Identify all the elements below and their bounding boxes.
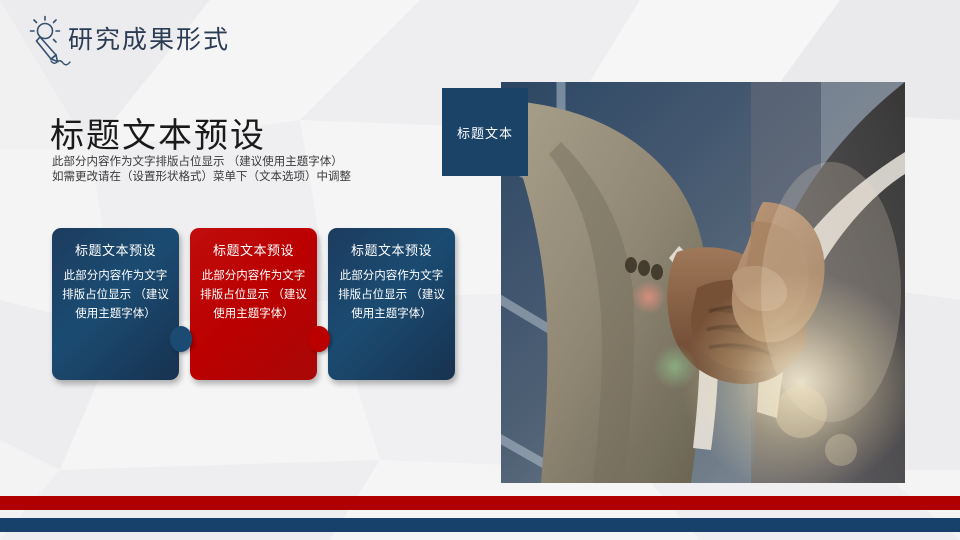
main-subtitle: 此部分内容作为文字排版占位显示 （建议使用主题字体）如需更改请在（设置形状格式）… [52, 155, 352, 185]
card-2-body: 此部分内容作为文字排版占位显示 （建议使用主题字体） [199, 267, 308, 324]
footer-bar-red [0, 496, 960, 510]
card-3-body: 此部分内容作为文字排版占位显示 （建议使用主题字体） [337, 267, 446, 324]
slide-root: 研究成果形式 标题文本预设 此部分内容作为文字排版占位显示 （建议使用主题字体）… [0, 0, 960, 540]
card-connector-1-icon [170, 326, 192, 352]
card-2-title: 标题文本预设 [199, 242, 308, 260]
card-3-title: 标题文本预设 [337, 242, 446, 260]
card-1[interactable]: 标题文本预设 此部分内容作为文字排版占位显示 （建议使用主题字体） [52, 228, 179, 380]
photo-label: 标题文本 [442, 88, 528, 176]
photo-label-text: 标题文本 [457, 123, 513, 142]
card-connector-2-icon [308, 326, 330, 352]
card-3[interactable]: 标题文本预设 此部分内容作为文字排版占位显示 （建议使用主题字体） [328, 228, 455, 380]
slide-header: 研究成果形式 [0, 0, 960, 72]
handshake-photo [501, 82, 905, 483]
card-2[interactable]: 标题文本预设 此部分内容作为文字排版占位显示 （建议使用主题字体） [190, 228, 317, 380]
footer-bar-blue [0, 518, 960, 532]
main-heading: 标题文本预设 [50, 108, 266, 157]
card-1-title: 标题文本预设 [61, 242, 170, 260]
card-row: 标题文本预设 此部分内容作为文字排版占位显示 （建议使用主题字体） 标题文本预设… [52, 228, 452, 380]
card-1-body: 此部分内容作为文字排版占位显示 （建议使用主题字体） [61, 267, 170, 324]
page-title: 研究成果形式 [68, 20, 230, 56]
